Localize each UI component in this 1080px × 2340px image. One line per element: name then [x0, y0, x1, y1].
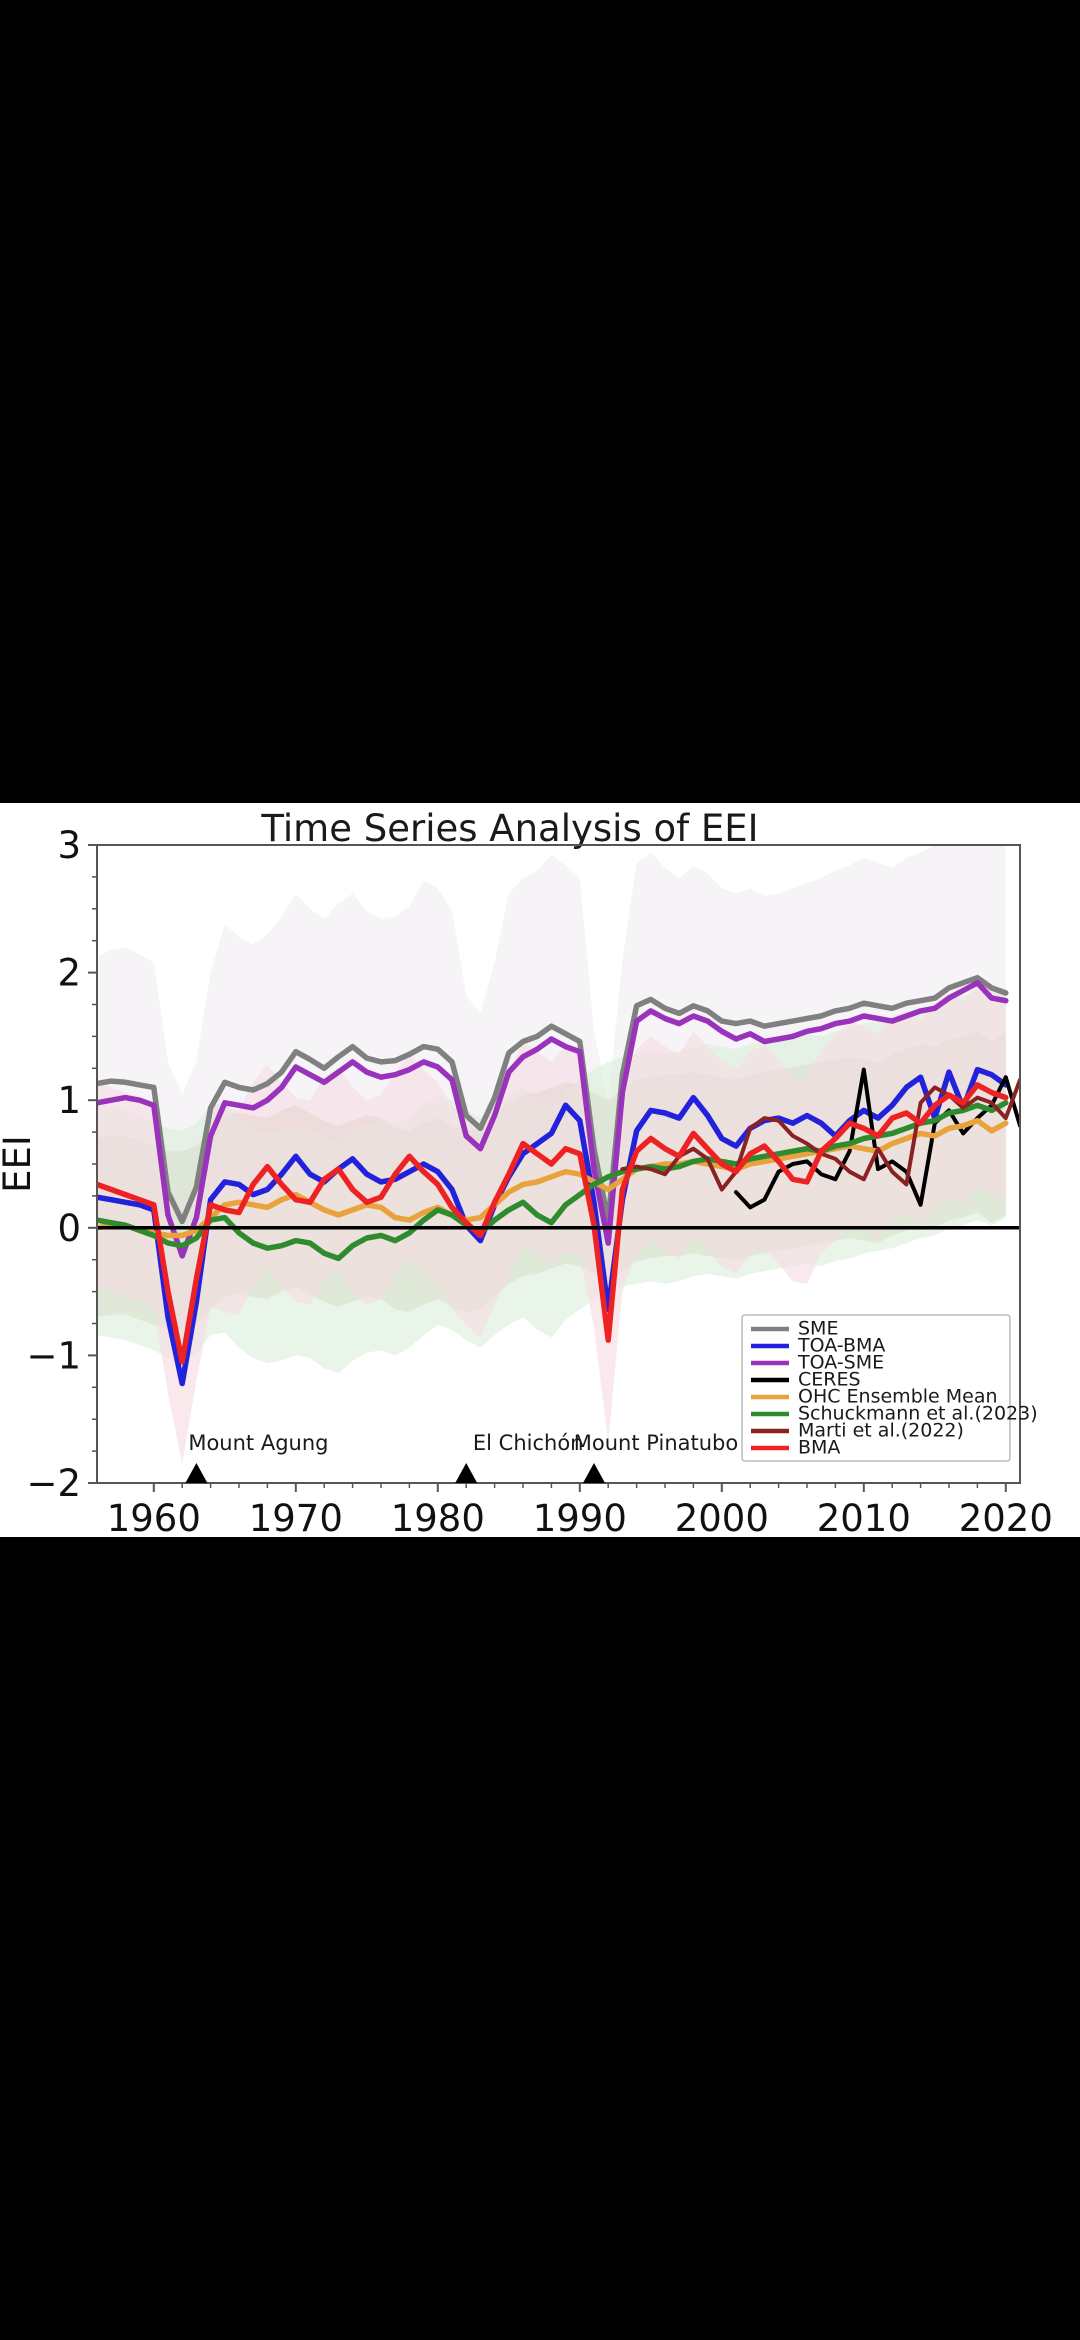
volcano-marker [583, 1463, 605, 1483]
x-tick-label: 1980 [391, 1497, 485, 1537]
y-tick-label: −1 [26, 1334, 81, 1377]
y-tick-label: −2 [26, 1462, 81, 1505]
volcano-label: Mount Agung [188, 1431, 328, 1455]
chart-legend: SMETOA-BMATOA-SMECERESOHC Ensemble MeanS… [742, 1315, 1038, 1461]
y-tick-label: 2 [57, 952, 81, 995]
volcano-marker [455, 1463, 477, 1483]
chart-figure: Time Series Analysis of EEI −2−101231960… [0, 803, 1080, 1537]
volcano-marker [185, 1463, 207, 1483]
plot-annotations: Mount AgungEl ChichónMount Pinatubo [185, 1431, 738, 1483]
y-tick-label: 1 [57, 1079, 81, 1122]
x-tick-label: 2000 [675, 1497, 769, 1537]
x-tick-label: 2020 [959, 1497, 1053, 1537]
x-tick-label: 1990 [533, 1497, 627, 1537]
x-tick-label: 1960 [107, 1497, 201, 1537]
volcano-label: Mount Pinatubo [574, 1431, 738, 1455]
y-tick-label: 0 [57, 1207, 81, 1250]
chart-plot: −2−101231960197019801990200020102020Year… [0, 803, 1080, 1537]
y-axis-label: EEI [0, 1135, 39, 1193]
volcano-label: El Chichón [473, 1431, 584, 1455]
x-tick-label: 2010 [817, 1497, 911, 1537]
y-tick-label: 3 [57, 824, 81, 867]
x-tick-label: 1970 [249, 1497, 343, 1537]
screenshot-root: Time Series Analysis of EEI −2−101231960… [0, 0, 1080, 2340]
legend-label-bma[interactable]: BMA [798, 1437, 840, 1459]
